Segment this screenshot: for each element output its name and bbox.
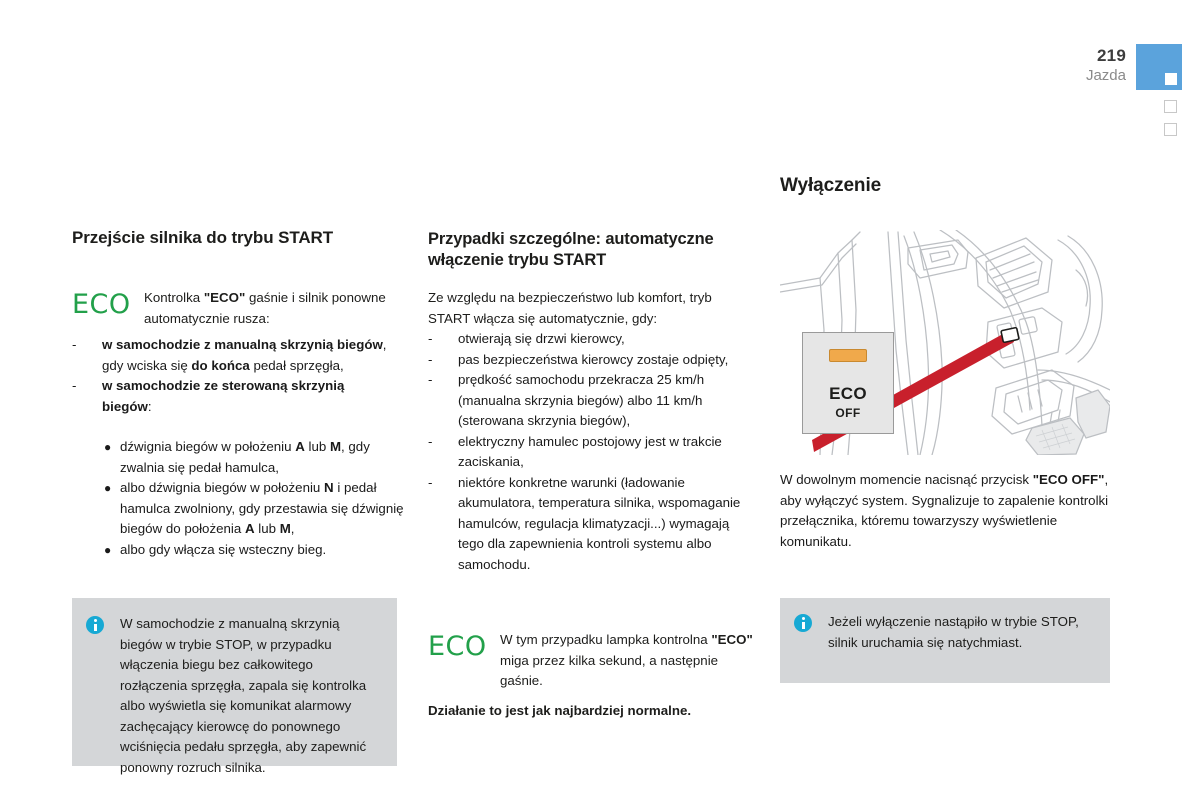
page-section-label: Jazda xyxy=(1086,66,1126,85)
right-section-title: Wyłączenie xyxy=(780,175,1110,197)
list-item: ●dźwignia biegów w położeniu A lub M, gd… xyxy=(102,437,407,478)
middle-item-1: pas bezpieczeństwa kierowcy zostaje odpi… xyxy=(458,352,728,367)
right-body-bold: "ECO OFF" xyxy=(1033,472,1105,487)
middle-intro: Ze względu na bezpieczeństwo lub komfort… xyxy=(428,288,748,329)
left-bullet-list: ●dźwignia biegów w położeniu A lub M, gd… xyxy=(102,437,407,560)
dash-marker: - xyxy=(428,370,432,391)
bullet-b1: A xyxy=(295,439,305,454)
info-icon xyxy=(86,616,104,634)
item-bold-1: w samochodzie z manualną skrzynią biegów xyxy=(102,337,383,352)
item-mid-2: : xyxy=(148,399,152,414)
dash-marker: - xyxy=(428,350,432,371)
bullet-p3b: lub xyxy=(255,521,280,536)
item-tail-1: pedał sprzęgła, xyxy=(250,358,344,373)
bullet-b3b: M xyxy=(280,521,291,536)
left-note-text: W samochodzie z manualną skrzynią biegów… xyxy=(120,614,379,778)
page-number: 219 xyxy=(1086,46,1126,66)
bullet-p4b: , xyxy=(291,521,295,536)
bullet-b1b: N xyxy=(324,480,334,495)
middle-item-0: otwierają się drzwi kierowcy, xyxy=(458,331,625,346)
middle-dash-list: -otwierają się drzwi kierowcy, -pas bezp… xyxy=(428,329,753,575)
right-info-note: Jeżeli wyłączenie nastąpiło w trybie STO… xyxy=(780,598,1110,683)
middle-item-3: elektryczny hamulec postojowy jest w tra… xyxy=(458,434,722,470)
section-tab-active[interactable] xyxy=(1136,44,1182,90)
eco-logo: ECO xyxy=(72,288,144,318)
item-bold-2: do końca xyxy=(191,358,249,373)
bullet-p1: dźwignia biegów w położeniu xyxy=(120,439,295,454)
eco-intro-before: Kontrolka xyxy=(144,290,204,305)
middle-item-2: prędkość samochodu przekracza 25 km/h (m… xyxy=(458,372,704,428)
middle-closing-statement: Działanie to jest jak najbardziej normal… xyxy=(428,701,753,722)
bullet-b2b: A xyxy=(245,521,255,536)
section-tab-2[interactable] xyxy=(1164,100,1177,113)
bullet-b2: M xyxy=(330,439,341,454)
bullet-marker: ● xyxy=(104,540,111,561)
eco-off-button-sublabel: OFF xyxy=(835,406,860,420)
middle-section-title: Przypadki szczególne: automatyczne włącz… xyxy=(428,229,753,271)
eco-logo: ECO xyxy=(428,630,500,660)
list-item: -w samochodzie ze sterowaną skrzynią bie… xyxy=(72,376,397,417)
dashboard-illustration: ECO OFF xyxy=(780,230,1110,455)
dash-marker: - xyxy=(428,473,432,494)
item-bold-3: w samochodzie ze sterowaną skrzynią bieg… xyxy=(102,378,344,414)
bullet-p2: lub xyxy=(305,439,330,454)
section-tabs xyxy=(1136,44,1182,136)
dash-marker: - xyxy=(72,376,76,397)
page-marker-text: 219 Jazda xyxy=(1086,44,1126,85)
list-item: ●albo gdy włącza się wsteczny bieg. xyxy=(102,540,407,561)
bullet-marker: ● xyxy=(104,437,111,458)
eco-off-indicator-lamp xyxy=(829,349,867,362)
bullet-p1c: albo gdy włącza się wsteczny bieg. xyxy=(120,542,326,557)
middle-eco-bold: "ECO" xyxy=(711,632,752,647)
eco-off-button-callout[interactable]: ECO OFF xyxy=(802,332,894,434)
left-eco-paragraph: Kontrolka "ECO" gaśnie i silnik ponowne … xyxy=(144,288,397,329)
section-tab-3[interactable] xyxy=(1164,123,1177,136)
list-item: -niektóre konkretne warunki (ładowanie a… xyxy=(428,473,753,576)
list-item: -w samochodzie z manualną skrzynią biegó… xyxy=(72,335,397,376)
left-dash-list: -w samochodzie z manualną skrzynią biegó… xyxy=(72,335,397,417)
list-item: -elektryczny hamulec postojowy jest w tr… xyxy=(428,432,753,473)
middle-item-4: niektóre konkretne warunki (ładowanie ak… xyxy=(458,475,740,572)
list-item: -pas bezpieczeństwa kierowcy zostaje odp… xyxy=(428,350,753,371)
info-icon xyxy=(794,614,812,632)
dash-marker: - xyxy=(428,329,432,350)
right-body-paragraph: W dowolnym momencie nacisnąć przycisk "E… xyxy=(780,470,1110,552)
highlighted-switch xyxy=(1001,327,1019,342)
eco-off-button-label: ECO xyxy=(829,384,867,404)
dash-marker: - xyxy=(72,335,76,356)
list-item: -otwierają się drzwi kierowcy, xyxy=(428,329,753,350)
left-info-note: W samochodzie z manualną skrzynią biegów… xyxy=(72,598,397,766)
right-body-before: W dowolnym momencie nacisnąć przycisk xyxy=(780,472,1033,487)
page-marker: 219 Jazda xyxy=(1086,44,1182,136)
middle-eco-after: miga przez kilka sekund, a następnie gaś… xyxy=(500,653,718,689)
list-item: -prędkość samochodu przekracza 25 km/h (… xyxy=(428,370,753,432)
left-section-title: Przejście silnika do trybu START xyxy=(72,228,412,248)
middle-eco-before: W tym przypadku lampka kontrolna xyxy=(500,632,711,647)
middle-eco-block: ECO W tym przypadku lampka kontrolna "EC… xyxy=(428,630,753,692)
list-item: ●albo dźwignia biegów w położeniu N i pe… xyxy=(102,478,407,540)
bullet-marker: ● xyxy=(104,478,111,499)
right-note-text: Jeżeli wyłączenie nastąpiło w trybie STO… xyxy=(828,612,1092,653)
middle-eco-paragraph: W tym przypadku lampka kontrolna "ECO" m… xyxy=(500,630,753,692)
bullet-p1b: albo dźwignia biegów w położeniu xyxy=(120,480,324,495)
eco-intro-bold: "ECO" xyxy=(204,290,245,305)
dash-marker: - xyxy=(428,432,432,453)
left-eco-block: ECO Kontrolka "ECO" gaśnie i silnik pono… xyxy=(72,288,397,329)
